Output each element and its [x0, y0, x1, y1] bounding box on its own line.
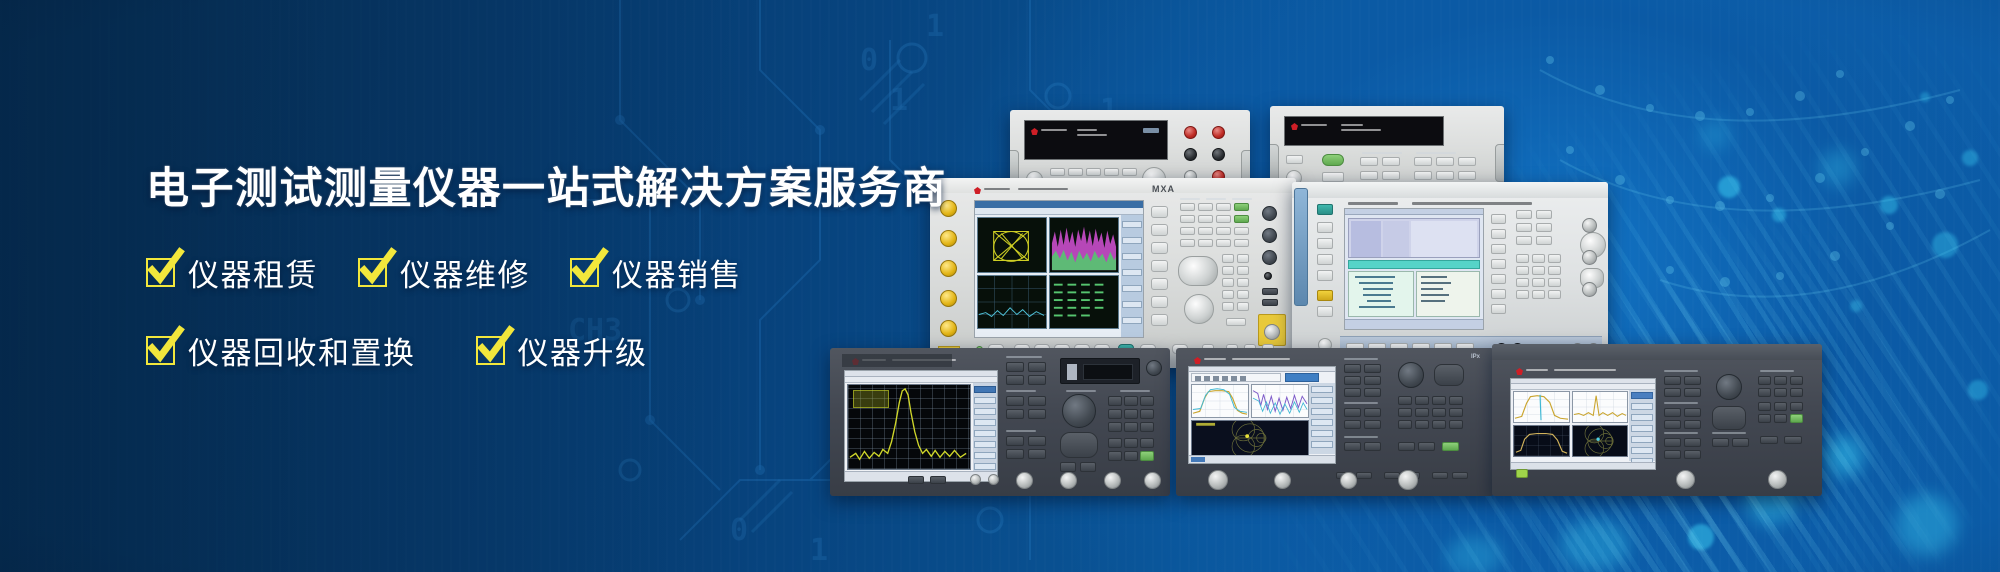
- numeric-key: [1516, 254, 1529, 263]
- test-port-2: [1768, 470, 1787, 489]
- numeric-key: [1237, 302, 1249, 311]
- checkbox-checked-icon: [146, 336, 175, 365]
- numeric-key: [1516, 278, 1529, 287]
- softkey-item: [1122, 285, 1141, 292]
- function-button: [1124, 438, 1138, 448]
- softkey-item: [1311, 408, 1334, 415]
- function-button: [1198, 215, 1213, 223]
- feature-item-instrument-recycle-exchange[interactable]: 仪器回收和置换: [146, 328, 416, 373]
- trace-pane-upper-right: [1572, 391, 1628, 423]
- numeric-key: [1415, 408, 1429, 417]
- numeric-key: [1124, 422, 1138, 432]
- function-button: [1436, 157, 1454, 166]
- softkey-item: [974, 463, 995, 470]
- numeric-key: [1432, 396, 1446, 405]
- function-button: [1006, 436, 1024, 446]
- numeric-key: [1449, 408, 1463, 417]
- numeric-key: [1758, 388, 1771, 397]
- trace-pane-s11: [1251, 384, 1309, 418]
- instrument-network-analyzer-pna: IPx: [1176, 348, 1494, 496]
- tester-softkey-column: [1488, 212, 1510, 330]
- numeric-key: [1398, 396, 1412, 405]
- usb-port: [1760, 436, 1778, 444]
- numeric-key: [1124, 409, 1138, 419]
- rotary-knob: [1184, 294, 1214, 324]
- numeric-key: [1108, 422, 1122, 432]
- softkey-button: [1491, 229, 1506, 239]
- svg-text:0: 0: [860, 43, 878, 78]
- numeric-key: [1398, 420, 1412, 429]
- instrument-left-column: [1314, 202, 1340, 362]
- numeric-key: [1432, 408, 1446, 417]
- numeric-key: [1140, 422, 1154, 432]
- softkey-button: [1151, 260, 1168, 272]
- numeric-key: [1548, 254, 1561, 263]
- numeric-key: [1548, 266, 1561, 275]
- instrument-top-bezel: [1492, 344, 1822, 360]
- input-terminal: [1184, 148, 1197, 161]
- function-button: [1382, 157, 1400, 166]
- numeric-key: [1140, 396, 1154, 406]
- softkey-button: [1151, 206, 1168, 218]
- function-button: [1198, 239, 1213, 247]
- display-label: [1077, 129, 1097, 131]
- function-button: [1516, 236, 1532, 245]
- softkey-item: [974, 441, 995, 448]
- analyzer-test-ports: [1652, 468, 1802, 492]
- function-button: [1360, 157, 1378, 166]
- tester-rf-port-column: [1576, 210, 1606, 330]
- function-button: [1684, 450, 1701, 459]
- function-button: [1536, 210, 1552, 219]
- function-button: [1317, 254, 1333, 265]
- analyzer-control-panel: [1662, 370, 1816, 472]
- softkey-item: [974, 408, 995, 415]
- display-toolbar: [975, 208, 1143, 215]
- feature-item-instrument-rental[interactable]: 仪器租赁: [146, 250, 318, 295]
- function-button: [1664, 420, 1681, 429]
- analyzer-keypad: [1178, 198, 1254, 348]
- display-highlight-row: [1348, 260, 1480, 269]
- numeric-key: [1516, 290, 1529, 299]
- function-button: [1344, 364, 1361, 373]
- function-button: [1086, 168, 1101, 176]
- panel-group-label: [1006, 356, 1042, 358]
- softkey-item: [1311, 441, 1334, 448]
- function-button: [1286, 155, 1303, 164]
- function-button: [1234, 227, 1249, 235]
- function-button: [1516, 210, 1532, 219]
- rf-connector: [940, 230, 957, 247]
- function-button: [1140, 438, 1154, 448]
- instrument-network-analyzer-ena-right: [1492, 344, 1822, 496]
- function-button: [1028, 449, 1046, 459]
- test-port-3: [1274, 472, 1291, 489]
- softkey-item: [1122, 221, 1141, 228]
- feature-item-instrument-repair[interactable]: 仪器维修: [358, 250, 530, 295]
- test-port: [1016, 472, 1033, 489]
- model-label: [1412, 202, 1532, 205]
- softkey-item: [974, 419, 995, 426]
- numeric-key: [1774, 388, 1787, 397]
- softkey-button: [1491, 244, 1506, 254]
- softkey-item: [1122, 301, 1141, 308]
- function-button: [1344, 376, 1361, 385]
- instrument-side-handle: [1495, 144, 1504, 182]
- rf-connector: [1582, 218, 1597, 233]
- power-led: [1516, 469, 1528, 478]
- numeric-key: [1532, 254, 1545, 263]
- function-button: [1344, 388, 1361, 397]
- rf-input-connector: [1264, 324, 1280, 340]
- softkey-button: [1151, 314, 1168, 326]
- softkey-button: [1151, 242, 1168, 254]
- trace-pane-upper-left: [1513, 391, 1570, 423]
- softkey-item: [1311, 430, 1334, 437]
- numeric-key: [1758, 414, 1771, 423]
- spectrum-trace-pane: [1049, 217, 1119, 273]
- panel-group-label: [1006, 390, 1036, 392]
- softkey-item: [1631, 447, 1654, 454]
- output-button: [1322, 154, 1344, 166]
- function-button: [1418, 442, 1435, 451]
- checkbox-checked-icon: [146, 258, 175, 287]
- display-taskbar: [1511, 462, 1655, 469]
- function-button: [1068, 168, 1083, 176]
- function-button: [1180, 215, 1195, 223]
- numeric-key: [1516, 266, 1529, 275]
- numeric-key: [1790, 376, 1803, 385]
- numeric-key: [1108, 396, 1122, 406]
- status-display-module: [1060, 358, 1140, 384]
- softkey-item: [1311, 386, 1334, 393]
- numeric-key: [1532, 266, 1545, 275]
- function-button: [1216, 215, 1231, 223]
- function-button: [1006, 375, 1024, 385]
- checkbox-checked-icon: [570, 258, 599, 287]
- function-button: [1536, 223, 1552, 232]
- softkey-button: [1151, 224, 1168, 236]
- display-label: [1301, 124, 1327, 126]
- analyzer-control-panel: [1342, 358, 1492, 466]
- panel-group-label: [1664, 432, 1698, 434]
- function-button: [1536, 236, 1552, 245]
- function-button: [1216, 203, 1231, 211]
- rf-connector: [940, 260, 957, 277]
- function-button: [1050, 168, 1065, 176]
- function-button: [1414, 157, 1432, 166]
- numeric-key: [1415, 396, 1429, 405]
- function-button: [1234, 203, 1249, 211]
- display-params-region: [1416, 271, 1480, 317]
- connector-port: [970, 474, 981, 485]
- display-label: [1143, 128, 1159, 133]
- function-button: [1028, 396, 1046, 406]
- navigation-pad: [1434, 364, 1464, 386]
- numeric-key: [1140, 409, 1154, 419]
- function-button: [1124, 451, 1138, 461]
- test-port-4: [1340, 472, 1357, 489]
- function-button: [1664, 388, 1681, 397]
- keysight-logo-icon: [1031, 128, 1038, 135]
- function-button: [1458, 157, 1476, 166]
- function-button: [1006, 409, 1024, 419]
- constellation-trace-pane: [977, 217, 1047, 273]
- panel-group-label: [1344, 402, 1378, 404]
- function-button: [1664, 450, 1681, 459]
- keysight-logo-icon: [1194, 357, 1201, 364]
- display-channel-bar: [1191, 373, 1281, 382]
- analyzer-softkey-column: [1148, 204, 1172, 334]
- analyzer-display: [844, 370, 998, 482]
- numeric-key: [1108, 409, 1122, 419]
- display-label: [1341, 129, 1381, 131]
- function-button: [1664, 408, 1681, 417]
- panel-group-label: [1760, 370, 1794, 372]
- feature-label: 仪器回收和置换: [188, 328, 416, 373]
- numeric-key: [1432, 420, 1446, 429]
- display-menu-bar: [1345, 209, 1483, 215]
- display-softkey-menu: [1629, 390, 1655, 461]
- function-button: [1458, 171, 1476, 180]
- softkey-item: [1631, 403, 1654, 410]
- function-button: [1180, 203, 1195, 211]
- softkey-item: [1122, 237, 1141, 244]
- function-button: [1364, 420, 1381, 429]
- instrument-top-bezel: [930, 178, 1296, 193]
- measurement-trace-pane: [977, 275, 1047, 329]
- function-button: [1364, 388, 1381, 397]
- numeric-key: [1774, 414, 1787, 423]
- rotary-knob: [1262, 206, 1277, 221]
- function-button: [1322, 172, 1344, 182]
- numeric-key: [1237, 254, 1249, 263]
- display-softkey-menu: [1309, 383, 1335, 454]
- function-button: [1516, 223, 1532, 232]
- panel-group-label: [1664, 402, 1698, 404]
- rotary-knob: [1398, 362, 1424, 388]
- display-dropdown: [1285, 373, 1319, 382]
- numeric-key: [1548, 278, 1561, 287]
- mxa-badge: MXA: [1152, 184, 1175, 194]
- function-button: [1006, 396, 1024, 406]
- softkey-item: [1631, 425, 1654, 432]
- softkey-item: [974, 430, 995, 437]
- function-button: [1364, 376, 1381, 385]
- numeric-key: [1790, 388, 1803, 397]
- brand-label: [1204, 358, 1226, 360]
- brand-label: [1348, 202, 1398, 205]
- rotary-knob: [1262, 250, 1277, 265]
- test-port: [1144, 472, 1161, 489]
- checkbox-checked-icon: [476, 336, 505, 365]
- analyzer-display: [1188, 366, 1336, 464]
- function-button: [1104, 168, 1119, 176]
- page-title: 电子测试测量仪器一站式解决方案服务商: [146, 168, 906, 211]
- input-terminal: [1212, 126, 1225, 139]
- panel-group-label: [1344, 358, 1378, 360]
- function-button: [1028, 409, 1046, 419]
- numeric-key: [1774, 402, 1787, 411]
- panel-group-label: [1344, 436, 1378, 438]
- numeric-key: [1222, 278, 1234, 287]
- display-tree-region: [1348, 271, 1414, 317]
- numeric-key: [1222, 290, 1234, 299]
- trace-pane-lower-left: [1513, 425, 1570, 457]
- navigation-pad: [1060, 432, 1098, 458]
- instrument-display: [1024, 120, 1168, 160]
- analyzer-control-panel: [1004, 356, 1164, 480]
- function-button: [1234, 215, 1249, 223]
- rf-connector: [940, 320, 957, 337]
- function-button: [1684, 408, 1701, 417]
- function-button: [1006, 449, 1024, 459]
- keysight-logo-icon: [1516, 368, 1523, 375]
- feature-item-instrument-upgrade[interactable]: 仪器升级: [476, 328, 648, 373]
- analyzer-display: [1510, 378, 1656, 470]
- model-label: [1018, 188, 1068, 190]
- numeric-key: [1449, 396, 1463, 405]
- function-button: [1216, 239, 1231, 247]
- usb-port: [1262, 299, 1278, 306]
- function-button: [1317, 270, 1333, 281]
- function-button: [1398, 442, 1415, 451]
- numeric-key: [1222, 254, 1234, 263]
- softkey-item: [974, 452, 995, 459]
- numeric-key: [1774, 376, 1787, 385]
- instrument-display: [1284, 116, 1444, 146]
- panel-group-label: [1180, 198, 1200, 200]
- hero-banner: CH3 0 1 1 0 1 0 1: [0, 0, 2000, 572]
- function-button: [1108, 438, 1122, 448]
- softkey-item: [1311, 419, 1334, 426]
- function-button: [1414, 171, 1432, 180]
- rotary-knob: [1146, 360, 1162, 376]
- instrument-cluster: MXA: [1030, 96, 2000, 516]
- display-softkey-menu: [1121, 215, 1143, 337]
- navigation-pad: [1712, 406, 1746, 430]
- function-button: [1028, 436, 1046, 446]
- numeric-key: [1790, 414, 1803, 423]
- function-button: [1382, 171, 1400, 180]
- softkey-item: [1631, 436, 1654, 443]
- softkey-item: [1631, 414, 1654, 421]
- function-button: [1684, 438, 1701, 447]
- function-button: [1344, 442, 1361, 451]
- svg-text:1: 1: [890, 83, 908, 118]
- rf-connector: [1582, 282, 1597, 297]
- function-button: [1684, 376, 1701, 385]
- numeric-key: [1532, 290, 1545, 299]
- function-button: [1216, 227, 1231, 235]
- softkey-button: [1151, 296, 1168, 308]
- panel-group-label: [1416, 152, 1456, 154]
- numeric-key: [1237, 278, 1249, 287]
- analyzer-test-ports: [1190, 466, 1486, 494]
- function-button: [1028, 362, 1046, 372]
- function-button: [1028, 375, 1046, 385]
- function-button: [1712, 438, 1729, 447]
- data-table-pane: [1049, 275, 1119, 329]
- panel-group-label: [1066, 390, 1096, 392]
- display-taskbar: [1189, 455, 1335, 463]
- svg-text:1: 1: [926, 9, 944, 44]
- numeric-key: [1758, 402, 1771, 411]
- function-button: [1180, 227, 1195, 235]
- function-button: [1198, 227, 1213, 235]
- numeric-key: [1449, 420, 1463, 429]
- function-button: [1140, 451, 1154, 461]
- function-button: [1226, 318, 1246, 326]
- function-button: [1198, 203, 1213, 211]
- rotary-knob: [1262, 228, 1277, 243]
- feature-label: 仪器维修: [400, 250, 530, 295]
- input-terminal: [1212, 148, 1225, 161]
- feature-item-instrument-sales[interactable]: 仪器销售: [570, 250, 742, 295]
- connector-port: [988, 474, 999, 485]
- rotary-knob: [1716, 374, 1742, 400]
- banner-copy: 电子测试测量仪器一站式解决方案服务商 仪器租赁 仪器维修 仪器销售: [146, 168, 906, 373]
- display-label: [1077, 134, 1107, 136]
- instrument-side-handle: [1294, 188, 1308, 306]
- panel-group-label: [1232, 198, 1252, 200]
- instrument-connector-column: [934, 194, 968, 362]
- model-label: [1232, 358, 1290, 360]
- function-button: [1317, 238, 1333, 249]
- numeric-key: [1124, 396, 1138, 406]
- instrument-radio-communication-tester: [1292, 182, 1608, 368]
- trace-pane-s21: [1191, 384, 1249, 418]
- function-button: [1006, 362, 1024, 372]
- numeric-key: [1237, 266, 1249, 275]
- softkey-item: [1631, 392, 1654, 399]
- function-button: [1108, 451, 1122, 461]
- numeric-key: [1237, 290, 1249, 299]
- panel-group-label: [1206, 198, 1226, 200]
- test-port-1: [1208, 470, 1228, 490]
- feature-row-2: 仪器回收和置换 仪器升级: [146, 328, 906, 373]
- function-button: [1344, 420, 1361, 429]
- softkey-button: [1491, 304, 1506, 314]
- model-label: [1554, 369, 1616, 371]
- function-button: [1317, 204, 1333, 215]
- function-button: [1436, 171, 1454, 180]
- rf-connector: [1582, 250, 1597, 265]
- keysight-logo-icon: [1291, 123, 1298, 130]
- headphone-jack: [1264, 272, 1272, 280]
- display-table-region: [1348, 218, 1480, 258]
- function-button: [1344, 408, 1361, 417]
- panel-group-label: [1712, 432, 1746, 434]
- brand-label: [984, 188, 1010, 190]
- analyzer-display: [974, 200, 1144, 338]
- softkey-button: [1151, 278, 1168, 290]
- function-button: [1180, 239, 1195, 247]
- feature-label: 仪器租赁: [188, 250, 318, 295]
- function-button: [1664, 438, 1681, 447]
- softkey-item: [974, 386, 995, 393]
- svg-text:1: 1: [810, 533, 828, 568]
- tester-keypad: [1514, 208, 1574, 332]
- display-menu-bar: [1189, 367, 1335, 372]
- function-button: [1732, 438, 1749, 447]
- instrument-top-bezel: [1292, 182, 1608, 198]
- function-button: [1360, 171, 1378, 180]
- numeric-key: [1398, 408, 1412, 417]
- smith-chart-pane: [1572, 425, 1628, 457]
- softkey-button: [1491, 289, 1506, 299]
- function-button: [1364, 364, 1381, 373]
